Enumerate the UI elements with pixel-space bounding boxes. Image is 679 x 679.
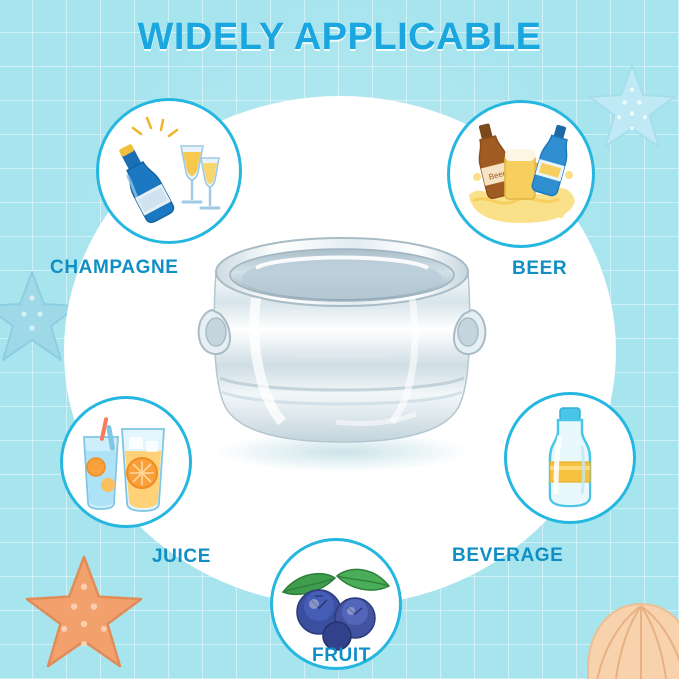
use-case-bubble-juice[interactable] bbox=[60, 396, 192, 528]
use-case-bubble-beverage[interactable] bbox=[504, 392, 636, 524]
starfish-icon-bottom-left bbox=[22, 552, 146, 679]
use-case-label-fruit: FRUIT bbox=[312, 645, 371, 667]
use-case-label-beer: BEER bbox=[512, 258, 567, 280]
use-case-bubble-beer[interactable]: Beer bbox=[447, 100, 595, 248]
product-image-beverage-tub bbox=[186, 226, 498, 476]
use-case-bubble-champagne[interactable] bbox=[96, 98, 242, 244]
page-title: WIDELY APPLICABLE bbox=[0, 16, 679, 59]
use-case-label-champagne: CHAMPAGNE bbox=[50, 257, 179, 279]
use-case-label-juice: JUICE bbox=[152, 546, 211, 568]
starfish-icon-top-right bbox=[586, 62, 678, 159]
seashell-icon-bottom-right bbox=[586, 602, 679, 679]
infographic-canvas: WIDELY APPLICABLE bbox=[0, 0, 679, 679]
use-case-label-beverage: BEVERAGE bbox=[452, 545, 563, 567]
